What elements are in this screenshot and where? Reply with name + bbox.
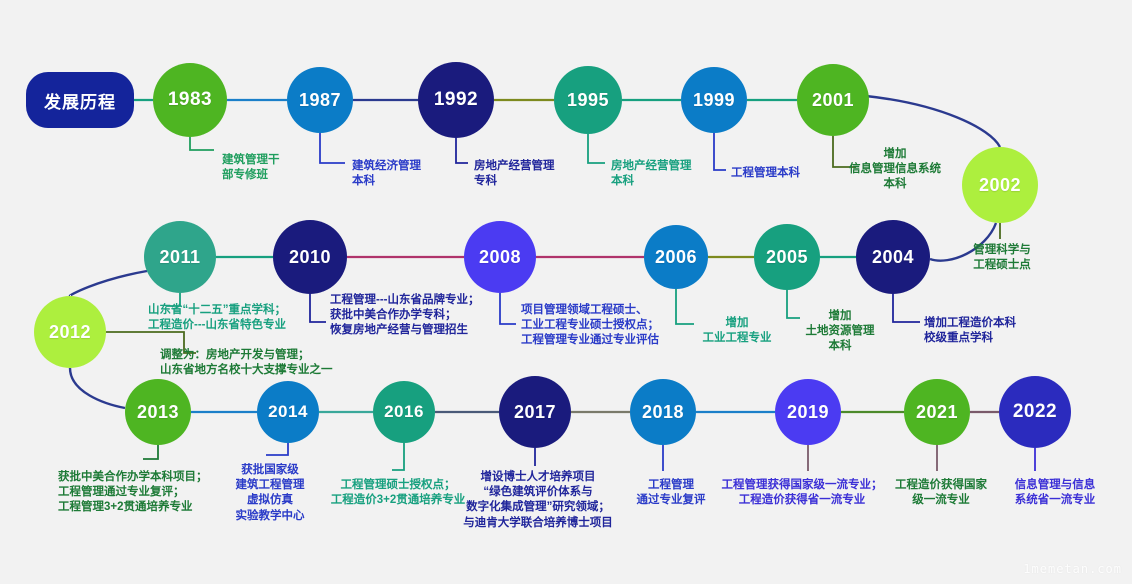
year-node-1987[interactable]: 1987 bbox=[287, 67, 353, 133]
year-node-2013[interactable]: 2013 bbox=[125, 379, 191, 445]
year-node-label: 2022 bbox=[1013, 401, 1057, 423]
year-node-1999[interactable]: 1999 bbox=[681, 67, 747, 133]
year-node-2012[interactable]: 2012 bbox=[34, 296, 106, 368]
cap-2011: 山东省“十二五”重点学科； 工程造价---山东省特色专业 bbox=[148, 303, 286, 333]
cap-1983: 建筑管理干 部专修班 bbox=[222, 153, 280, 183]
cap-2018: 工程管理 通过专业复评 bbox=[637, 478, 706, 508]
year-node-2010[interactable]: 2010 bbox=[273, 220, 347, 294]
cap-1987: 建筑经济管理 本科 bbox=[352, 159, 421, 189]
year-node-label: 2017 bbox=[514, 402, 556, 423]
cap-1992: 房地产经营管理 专科 bbox=[474, 159, 555, 189]
year-node-label: 2021 bbox=[916, 402, 958, 423]
cap-2010: 工程管理---山东省品牌专业； 获批中美合作办学专科； 恢复房地产经营与管理招生 bbox=[330, 293, 480, 339]
year-node-label: 1992 bbox=[434, 89, 478, 111]
cap-2021: 工程造价获得国家 级一流专业 bbox=[895, 478, 987, 508]
year-node-2008[interactable]: 2008 bbox=[464, 221, 536, 293]
year-node-2014[interactable]: 2014 bbox=[257, 381, 319, 443]
year-node-2004[interactable]: 2004 bbox=[856, 220, 930, 294]
year-node-label: 2018 bbox=[642, 402, 684, 423]
title-badge: 发展历程 bbox=[26, 72, 134, 128]
cap-2014: 获批国家级 建筑工程管理 虚拟仿真 实验教学中心 bbox=[236, 463, 305, 524]
year-node-label: 2011 bbox=[159, 247, 200, 268]
cap-2006: 增加 工业工程专业 bbox=[703, 316, 772, 346]
year-node-label: 1987 bbox=[299, 90, 341, 111]
cap-2002: 管理科学与 工程硕士点 bbox=[973, 243, 1031, 273]
year-node-2018[interactable]: 2018 bbox=[630, 379, 696, 445]
cap-1995: 房地产经营管理 本科 bbox=[611, 159, 692, 189]
year-node-label: 2004 bbox=[872, 247, 914, 268]
year-node-label: 2013 bbox=[137, 402, 179, 423]
cap-1999: 工程管理本科 bbox=[731, 166, 800, 181]
year-node-2002[interactable]: 2002 bbox=[962, 147, 1038, 223]
year-node-2011[interactable]: 2011 bbox=[144, 221, 216, 293]
year-node-2022[interactable]: 2022 bbox=[999, 376, 1071, 448]
year-node-label: 2014 bbox=[268, 402, 308, 422]
year-node-2005[interactable]: 2005 bbox=[754, 224, 820, 290]
cap-2001: 增加 信息管理信息系统 本科 bbox=[849, 147, 941, 193]
year-node-label: 2002 bbox=[979, 175, 1021, 196]
year-node-label: 2019 bbox=[787, 402, 829, 423]
year-node-label: 2006 bbox=[655, 247, 697, 268]
cap-2022: 信息管理与信息 系统省一流专业 bbox=[1015, 478, 1096, 508]
year-node-label: 2008 bbox=[479, 247, 521, 268]
cap-2013: 获批中美合作办学本科项目； 工程管理通过专业复评； 工程管理3+2贯通培养专业 bbox=[58, 470, 208, 516]
year-node-label: 2010 bbox=[289, 247, 331, 268]
watermark: 1memetan.com bbox=[1023, 562, 1122, 576]
cap-2012: 调整为：房地产开发与管理； 山东省地方名校十大支撑专业之一 bbox=[160, 348, 333, 378]
year-node-2006[interactable]: 2006 bbox=[644, 225, 708, 289]
year-node-1995[interactable]: 1995 bbox=[554, 66, 622, 134]
year-node-1983[interactable]: 1983 bbox=[153, 63, 227, 137]
year-node-label: 1983 bbox=[168, 89, 212, 111]
year-node-1992[interactable]: 1992 bbox=[418, 62, 494, 138]
year-node-label: 2001 bbox=[812, 90, 854, 111]
year-node-label: 1995 bbox=[567, 90, 609, 111]
year-node-2001[interactable]: 2001 bbox=[797, 64, 869, 136]
year-node-label: 2012 bbox=[49, 322, 91, 343]
year-node-2021[interactable]: 2021 bbox=[904, 379, 970, 445]
year-node-2016[interactable]: 2016 bbox=[373, 381, 435, 443]
title-badge-label: 发展历程 bbox=[44, 88, 116, 113]
year-node-2019[interactable]: 2019 bbox=[775, 379, 841, 445]
cap-2008: 项目管理领域工程硕士、 工业工程专业硕士授权点； 工程管理专业通过专业评估 bbox=[521, 303, 659, 349]
cap-2019: 工程管理获得国家级一流专业； 工程造价获得省一流专业 bbox=[722, 478, 883, 508]
cap-2017: 增设博士人才培养项目 “绿色建筑评价体系与 数字化集成管理”研究领域； 与迪肯大… bbox=[463, 470, 613, 531]
cap-2004: 增加工程造价本科 校级重点学科 bbox=[924, 316, 1016, 346]
year-node-2017[interactable]: 2017 bbox=[499, 376, 571, 448]
year-node-label: 2016 bbox=[384, 402, 424, 422]
year-node-label: 2005 bbox=[766, 247, 808, 268]
timeline-infographic: 发展历程 19831987199219951999200120022012201… bbox=[0, 0, 1132, 584]
cap-2005: 增加 土地资源管理 本科 bbox=[806, 309, 875, 355]
cap-2016: 工程管理硕士授权点； 工程造价3+2贯通培养专业 bbox=[331, 478, 466, 508]
year-node-label: 1999 bbox=[693, 90, 735, 111]
